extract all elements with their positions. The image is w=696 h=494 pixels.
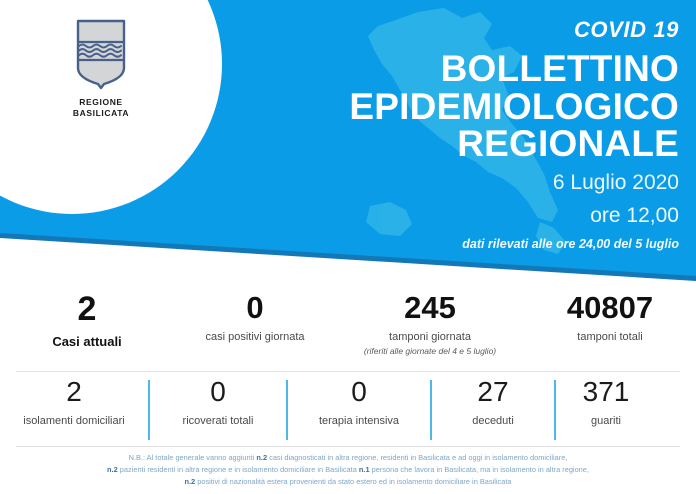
stat-value: 27 xyxy=(432,378,554,406)
title-line-3: REGIONALE xyxy=(349,125,679,163)
stat-value: 2 xyxy=(0,292,174,326)
stat-value: 371 xyxy=(556,378,656,406)
stat-label: terapia intensiva xyxy=(288,415,430,427)
stats-divider-bottom xyxy=(16,446,680,447)
stat-value: 0 xyxy=(288,378,430,406)
stat-value: 2 xyxy=(0,378,148,406)
stat-terapia-intensiva: 0 terapia intensiva xyxy=(288,378,430,427)
bulletin-date: 6 Luglio 2020 xyxy=(349,170,679,196)
stat-value: 40807 xyxy=(524,292,696,323)
stat-value: 0 xyxy=(174,292,336,323)
stat-label: tamponi totali xyxy=(524,331,696,345)
stat-label: ricoverati totali xyxy=(150,415,286,427)
footnote-line-1: N.B.: Al totale generale vanno aggiunti … xyxy=(0,452,696,464)
stat-tamponi-giornata: 245 tamponi giornata (riferiti alle gior… xyxy=(336,292,524,356)
footnotes: N.B.: Al totale generale vanno aggiunti … xyxy=(0,452,696,488)
title-line-1: BOLLETTINO xyxy=(349,50,679,88)
page-title: BOLLETTINO EPIDEMIOLOGICO REGIONALE 6 Lu… xyxy=(349,50,679,251)
stat-label: Casi attuali xyxy=(0,334,174,350)
coat-of-arms-shield-icon xyxy=(75,18,127,90)
stats-divider-top xyxy=(16,371,680,372)
stat-label: deceduti xyxy=(432,415,554,427)
footnote-text: persona che lavora in Basilicata, ma in … xyxy=(370,465,589,474)
stat-casi-attuali: 2 Casi attuali xyxy=(0,292,174,356)
covid-tag: COVID 19 xyxy=(574,17,679,43)
stat-label: casi positivi giornata xyxy=(174,331,336,345)
footnote-text: pazienti residenti in altra regione e in… xyxy=(118,465,359,474)
stat-isolamenti-domiciliari: 2 isolamenti domiciliari xyxy=(0,378,148,427)
stat-value: 245 xyxy=(336,292,524,323)
footnote-line-3: n.2 positivi di nazionalità estera prove… xyxy=(0,476,696,488)
emblem-label: REGIONE BASILICATA xyxy=(56,97,146,120)
secondary-stats-row: 2 isolamenti domiciliari 0 ricoverati to… xyxy=(0,378,696,444)
stat-sublabel: (riferiti alle giornate del 4 e 5 luglio… xyxy=(336,346,524,356)
footnote-emphasis: n.2 xyxy=(107,465,118,474)
stat-ricoverati-totali: 0 ricoverati totali xyxy=(150,378,286,427)
stat-casi-positivi-giornata: 0 casi positivi giornata xyxy=(174,292,336,356)
stat-label: isolamenti domiciliari xyxy=(0,415,148,427)
title-line-2: EPIDEMIOLOGICO xyxy=(349,88,679,126)
data-collection-note: dati rilevati alle ore 24,00 del 5 lugli… xyxy=(349,237,679,251)
footnote-text: casi diagnosticati in altra regione, res… xyxy=(267,453,567,462)
footnote-text: N.B.: Al totale generale vanno aggiunti xyxy=(129,453,257,462)
primary-stats-row: 2 Casi attuali 0 casi positivi giornata … xyxy=(0,292,696,356)
footnote-emphasis: n.2 xyxy=(184,477,195,486)
regione-basilicata-emblem: REGIONE BASILICATA xyxy=(56,18,146,120)
footnote-emphasis: n.1 xyxy=(359,465,370,474)
stat-deceduti: 27 deceduti xyxy=(432,378,554,427)
stat-tamponi-totali: 40807 tamponi totali xyxy=(524,292,696,356)
stat-label: tamponi giornata xyxy=(336,331,524,345)
stat-guariti: 371 guariti xyxy=(556,378,656,427)
stat-label: guariti xyxy=(556,415,656,427)
stat-value: 0 xyxy=(150,378,286,406)
footnote-text: positivi di nazionalità estera provenien… xyxy=(195,477,511,486)
bulletin-time: ore 12,00 xyxy=(349,203,679,229)
covid-bulletin-page: REGIONE BASILICATA COVID 19 BOLLETTINO E… xyxy=(0,0,696,494)
footnote-emphasis: n.2 xyxy=(256,453,267,462)
footnote-line-2: n.2 pazienti residenti in altra regione … xyxy=(0,464,696,476)
